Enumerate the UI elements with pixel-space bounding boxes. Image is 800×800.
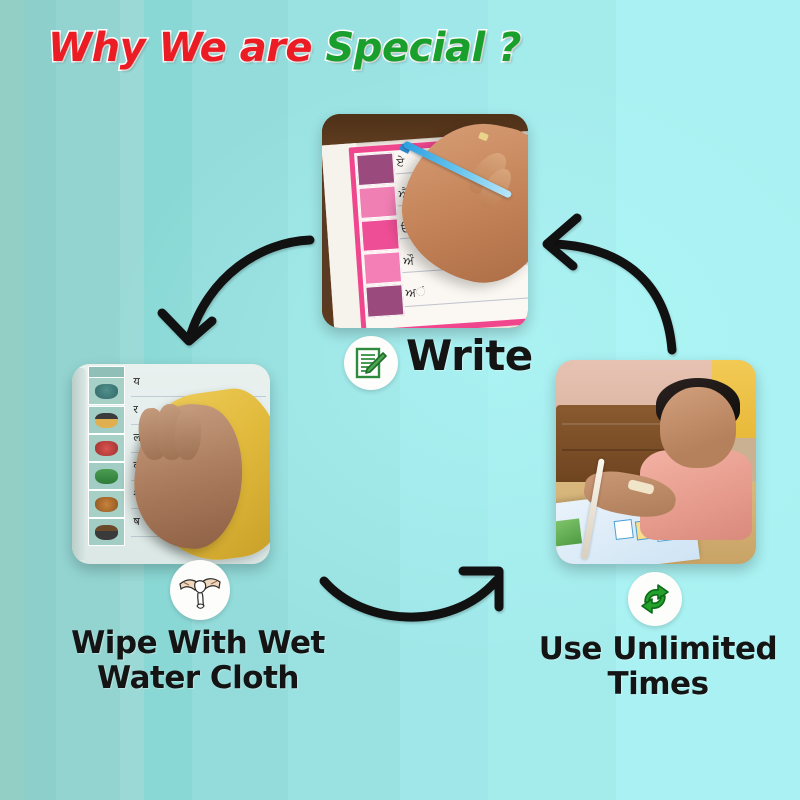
man-picture-icon (95, 525, 118, 540)
hands-wringing-cloth-icon-glyph (177, 570, 223, 610)
photo-write-content: ਏ ਐ ਓ ਔ ਅં (322, 114, 528, 328)
document-pencil-icon (344, 336, 398, 390)
page-title-part-two: Special ? (326, 25, 521, 71)
letter-glyph: ਏ (396, 154, 405, 170)
label-wipe-line1: Wipe With Wet (71, 625, 325, 661)
photo-wipe-content: य र ल व श ष (72, 364, 270, 564)
picture-strip (361, 218, 400, 252)
book-spine (72, 368, 86, 560)
picture-strip (88, 462, 126, 490)
child-picture-icon (95, 413, 118, 428)
background-band (0, 0, 24, 800)
picture-strip (88, 406, 126, 434)
label-wipe-line2: Water Cloth (97, 660, 299, 696)
label-wipe-text: Wipe With WetWater Cloth (48, 626, 348, 695)
photo-wipe-step: य र ल व श ष (72, 364, 270, 564)
red-picture-icon (95, 441, 118, 456)
letter-glyph: ष (133, 514, 139, 529)
document-pencil-icon-glyph (353, 345, 389, 381)
label-unlimited-text: Use UnlimitedTimes (528, 632, 788, 701)
bear-picture-icon (95, 497, 118, 512)
label-unlimited-line1: Use Unlimited (539, 631, 777, 667)
picture-strip (88, 377, 126, 405)
picture-strip (88, 434, 126, 462)
picture-strip (363, 251, 402, 285)
boy-face (660, 387, 736, 469)
recycle-arrows-icon-glyph (636, 580, 674, 618)
letter-glyph: ਅં (405, 285, 426, 301)
hands-wringing-cloth-icon (170, 560, 230, 620)
page-title-part-one: Why We are (48, 25, 326, 71)
picture-strip (88, 490, 126, 518)
poster-canvas: Why We are Special ? ਏ ਐ ਓ (0, 0, 800, 800)
book-green-panel (556, 518, 582, 546)
label-unlimited-line2: Times (607, 666, 708, 702)
label-write-text: Write (406, 332, 533, 379)
photo-unlimited-step (556, 360, 756, 564)
cloud-picture-icon (95, 384, 118, 399)
photo-unlimited-content (556, 360, 756, 564)
page-title: Why We are Special ? (48, 28, 521, 68)
recycle-arrows-icon (628, 572, 682, 626)
photo-write-step: ਏ ਐ ਓ ਔ ਅં (322, 114, 528, 328)
picture-strip (366, 283, 405, 317)
letter-glyph: र (133, 402, 138, 417)
picture-strip (359, 185, 398, 219)
letter-glyph: य (133, 374, 139, 389)
book-cell (614, 519, 633, 540)
letter-glyph: ਔ (403, 252, 414, 268)
picture-strip (88, 518, 126, 546)
label-write: Write (344, 334, 544, 396)
picture-strip (357, 152, 396, 186)
leaf-picture-icon (95, 469, 118, 484)
